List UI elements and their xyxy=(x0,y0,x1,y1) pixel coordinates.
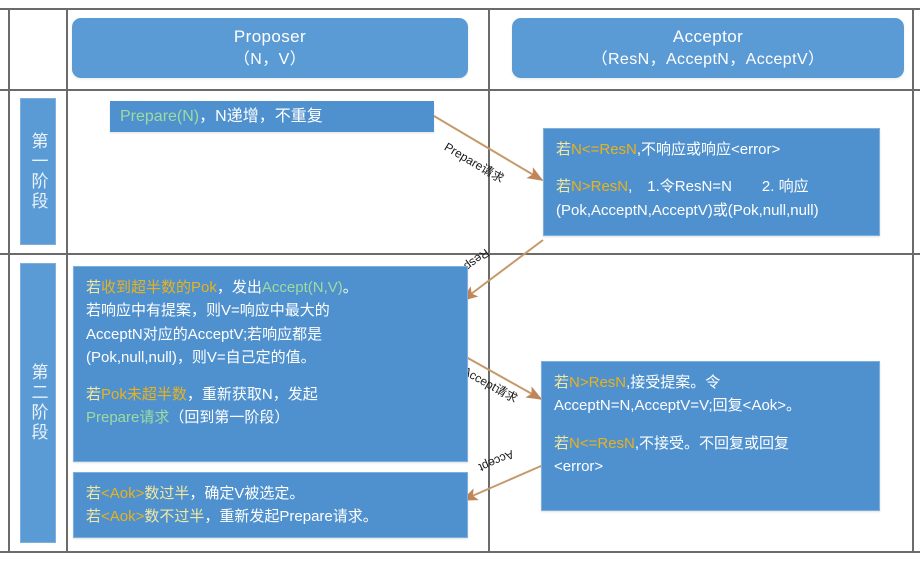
acceptor-p1-l1a: 若 xyxy=(556,141,571,158)
proposer-p2-l1d: Accept(N,V) xyxy=(262,279,343,296)
proposer-p2-l5c: ，重新获取N，发起 xyxy=(187,386,318,403)
proposer-result-box: 若<Aok>数过半，确定V被选定。 若<Aok>数不过半，重新发起Prepare… xyxy=(73,472,468,538)
acceptor-phase1-line3: (Pok,AcceptN,AcceptV)或(Pok,null,null) xyxy=(556,199,867,222)
acceptor-params: （ResN，AcceptN，AcceptV） xyxy=(592,49,825,71)
arrow-label-prepare-request: Prepare请求 xyxy=(441,138,507,187)
proposer-title: Proposer xyxy=(234,26,306,49)
proposer-phase2-box: 若收到超半数的Pok，发出Accept(N,V)。 若响应中有提案，则V=响应中… xyxy=(73,266,468,462)
proposer-prepare-highlight: Prepare(N) xyxy=(120,108,199,125)
acceptor-p2-line4: <error> xyxy=(554,455,867,478)
acceptor-p2-l1a: 若 xyxy=(554,374,569,391)
acceptor-header: Acceptor （ResN，AcceptN，AcceptV） xyxy=(512,18,904,78)
proposer-result-line1: 若<Aok>数过半，确定V被选定。 xyxy=(86,482,455,505)
arrow-prepare-response xyxy=(463,240,543,300)
acceptor-p2-l1b: N>ResN xyxy=(569,374,626,391)
proposer-prepare-box: Prepare(N)，N递增，不重复 xyxy=(110,101,434,132)
acceptor-p2-line2: AcceptN=N,AcceptV=V;回复<Aok>。 xyxy=(554,394,867,417)
arrow-accept-response xyxy=(463,466,541,500)
grid-line-bottom xyxy=(0,551,920,553)
acceptor-phase1-box: 若N<=ResN,不响应或响应<error> 若N>ResN, 1.令ResN=… xyxy=(543,128,880,236)
grid-line-top xyxy=(0,8,920,10)
proposer-p2-l5b: Pok未超半数 xyxy=(101,386,187,403)
proposer-params: （N，V） xyxy=(234,49,306,71)
acceptor-p2-l3b: N<=ResN xyxy=(569,435,635,452)
acceptor-p2-l3a: 若 xyxy=(554,435,569,452)
proposer-res-l1d: ，确定V被选定。 xyxy=(189,485,304,502)
phase-label-2-text: 第二阶段 xyxy=(30,363,47,443)
arrow-label-accept-request: Accept请求 xyxy=(460,362,521,407)
acceptor-p2-l3c: ,不接受。不回复或回复 xyxy=(635,435,789,452)
proposer-prepare-rest: ，N递增，不重复 xyxy=(199,108,323,125)
proposer-res-l2b: <Aok> xyxy=(101,508,144,525)
proposer-res-l1c: 数过半 xyxy=(144,485,189,502)
acceptor-p1-l2a: 若 xyxy=(556,178,571,195)
phase-label-2: 第二阶段 xyxy=(20,263,56,543)
paxos-diagram: Prepare请求 Response Accept请求 Accept Propo… xyxy=(0,0,920,565)
acceptor-p1-l2b: N>ResN xyxy=(571,178,628,195)
grid-line-phase xyxy=(66,8,68,551)
grid-line-row2 xyxy=(0,253,920,255)
proposer-res-l2c: 数不过半 xyxy=(144,508,204,525)
proposer-res-l2a: 若 xyxy=(86,508,101,525)
proposer-p2-l5a: 若 xyxy=(86,386,101,403)
proposer-p2-l6b: （回到第一阶段） xyxy=(169,409,289,426)
proposer-p2-l1b: 收到超半数的Pok xyxy=(101,279,217,296)
proposer-p2-line1: 若收到超半数的Pok，发出Accept(N,V)。 xyxy=(86,276,455,299)
proposer-p2-line3: AcceptN对应的AcceptV;若响应都是 xyxy=(86,323,455,346)
acceptor-p2-line1: 若N>ResN,接受提案。令 xyxy=(554,371,867,394)
arrow-label-accept-response: Accept xyxy=(477,447,516,475)
phase-label-1: 第一阶段 xyxy=(20,98,56,245)
proposer-p2-l6a: Prepare请求 xyxy=(86,409,169,426)
proposer-res-l1b: <Aok> xyxy=(101,485,144,502)
acceptor-p2-l1c: ,接受提案。令 xyxy=(626,374,720,391)
proposer-res-l2d: ，重新发起Prepare请求。 xyxy=(204,508,377,525)
acceptor-phase1-line2: 若N>ResN, 1.令ResN=N 2. 响应 xyxy=(556,175,867,198)
proposer-p2-l1e: 。 xyxy=(343,279,358,296)
acceptor-phase2-box: 若N>ResN,接受提案。令 AcceptN=N,AcceptV=V;回复<Ao… xyxy=(541,361,880,511)
phase-label-1-text: 第一阶段 xyxy=(30,132,47,212)
proposer-p2-line2: 若响应中有提案，则V=响应中最大的 xyxy=(86,299,455,322)
acceptor-phase1-line1: 若N<=ResN,不响应或响应<error> xyxy=(556,138,867,161)
acceptor-p2-line3: 若N<=ResN,不接受。不回复或回复 xyxy=(554,432,867,455)
proposer-p2-line6: Prepare请求（回到第一阶段） xyxy=(86,406,455,429)
acceptor-p1-l2c: , 1.令ResN=N 2. 响应 xyxy=(628,178,808,195)
proposer-res-l1a: 若 xyxy=(86,485,101,502)
grid-line-left xyxy=(8,8,10,551)
proposer-header: Proposer （N，V） xyxy=(72,18,468,78)
grid-line-right xyxy=(912,8,914,551)
acceptor-p1-l1b: N<=ResN xyxy=(571,141,637,158)
proposer-p2-line4: (Pok,null,null)，则V=自己定的值。 xyxy=(86,346,455,369)
proposer-p2-l1a: 若 xyxy=(86,279,101,296)
proposer-result-line2: 若<Aok>数不过半，重新发起Prepare请求。 xyxy=(86,505,455,528)
proposer-p2-line5: 若Pok未超半数，重新获取N，发起 xyxy=(86,383,455,406)
acceptor-title: Acceptor xyxy=(673,26,743,49)
grid-line-row1 xyxy=(0,89,920,91)
proposer-p2-l1c: ，发出 xyxy=(217,279,262,296)
acceptor-p1-l1c: ,不响应或响应<error> xyxy=(637,141,780,158)
proposer-prepare-line: Prepare(N)，N递增，不重复 xyxy=(120,105,424,130)
